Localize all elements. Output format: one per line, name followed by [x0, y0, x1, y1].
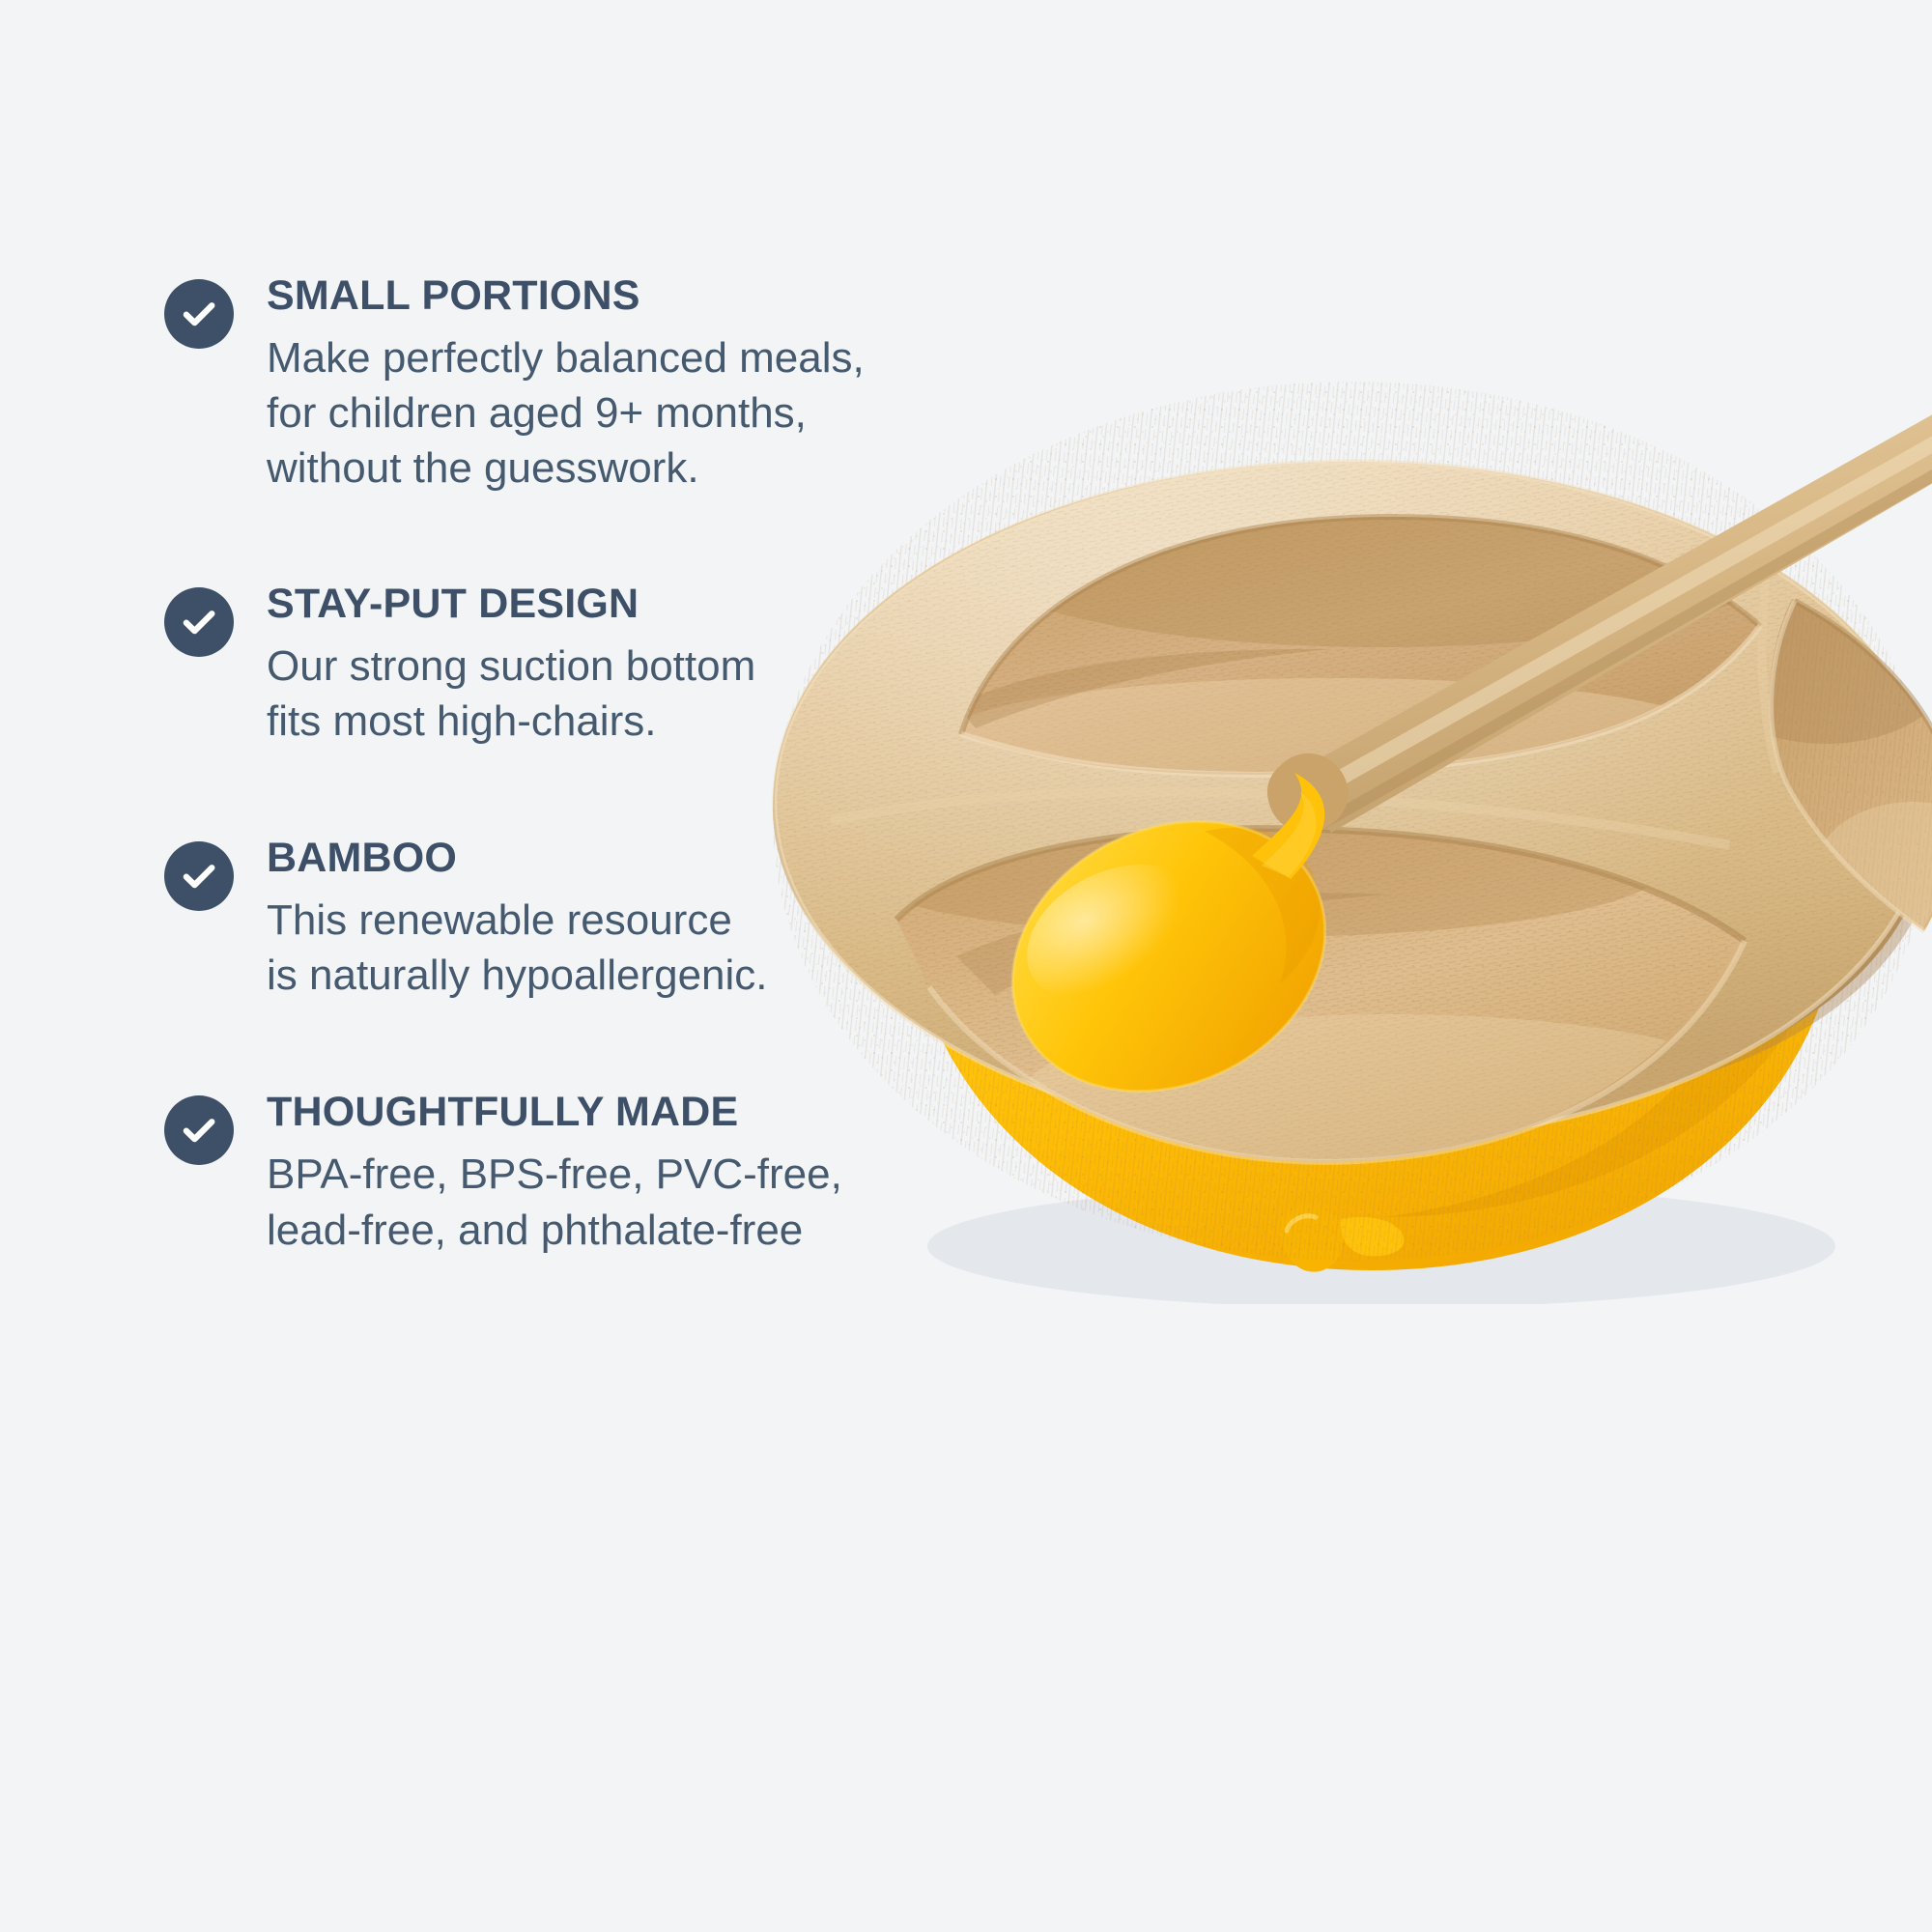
check-circle-icon — [164, 587, 234, 657]
feature-title: SMALL PORTIONS — [267, 275, 1034, 317]
feature-desc-line: Our strong suction bottom — [267, 639, 1034, 694]
feature-description: BPA-free, BPS-free, PVC-free, lead-free,… — [267, 1147, 1034, 1257]
feature-description: Our strong suction bottom fits most high… — [267, 639, 1034, 749]
feature-item-small-portions: SMALL PORTIONS Make perfectly balanced m… — [164, 275, 1034, 497]
feature-title: THOUGHTFULLY MADE — [267, 1092, 1034, 1133]
feature-desc-line: for children aged 9+ months, — [267, 385, 1034, 440]
feature-description: Make perfectly balanced meals, for child… — [267, 330, 1034, 497]
feature-item-thoughtfully-made: THOUGHTFULLY MADE BPA-free, BPS-free, PV… — [164, 1092, 1034, 1257]
feature-title: STAY-PUT DESIGN — [267, 583, 1034, 625]
feature-desc-line: fits most high-chairs. — [267, 694, 1034, 749]
feature-list: SMALL PORTIONS Make perfectly balanced m… — [164, 275, 1034, 1258]
feature-body: BAMBOO This renewable resource is natura… — [267, 838, 1034, 1003]
check-circle-icon — [164, 1095, 234, 1165]
feature-desc-line: This renewable resource — [267, 893, 1034, 948]
feature-item-stay-put-design: STAY-PUT DESIGN Our strong suction botto… — [164, 583, 1034, 749]
infographic-canvas: SMALL PORTIONS Make perfectly balanced m… — [0, 0, 1932, 1932]
feature-desc-line: BPA-free, BPS-free, PVC-free, — [267, 1147, 1034, 1202]
feature-desc-line: is naturally hypoallergenic. — [267, 948, 1034, 1003]
feature-title: BAMBOO — [267, 838, 1034, 879]
feature-body: STAY-PUT DESIGN Our strong suction botto… — [267, 583, 1034, 749]
feature-description: This renewable resource is naturally hyp… — [267, 893, 1034, 1003]
feature-desc-line: Make perfectly balanced meals, — [267, 330, 1034, 385]
feature-item-bamboo: BAMBOO This renewable resource is natura… — [164, 838, 1034, 1003]
feature-body: THOUGHTFULLY MADE BPA-free, BPS-free, PV… — [267, 1092, 1034, 1257]
check-circle-icon — [164, 841, 234, 911]
feature-desc-line: without the guesswork. — [267, 440, 1034, 496]
feature-body: SMALL PORTIONS Make perfectly balanced m… — [267, 275, 1034, 497]
check-circle-icon — [164, 279, 234, 349]
feature-desc-line: lead-free, and phthalate-free — [267, 1203, 1034, 1258]
